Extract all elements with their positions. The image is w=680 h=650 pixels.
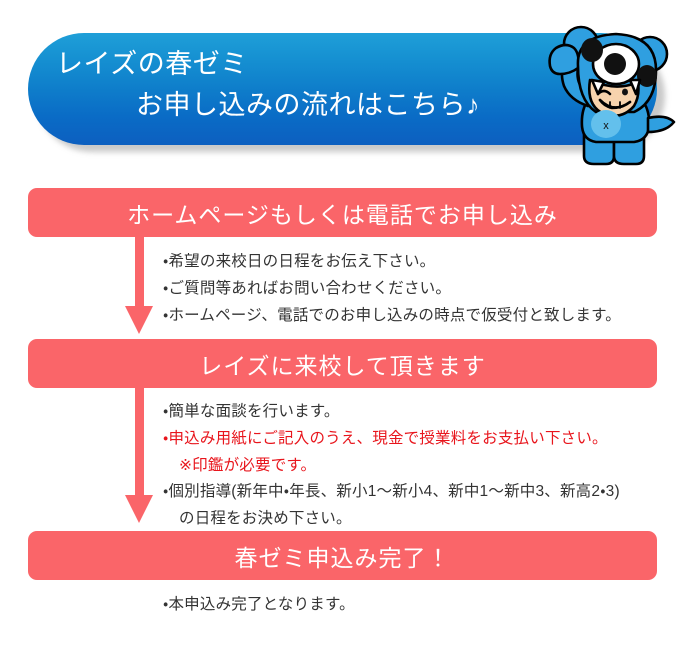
step-2-bullet-list: ・簡単な面談を行います。 ・申込み用紙にご記入のうえ、現金で授業料をお支払い下さ…	[163, 399, 620, 533]
flow-arrow-1-stem	[135, 236, 144, 308]
list-item: ・本申込み完了となります。	[163, 592, 355, 619]
step-bar-1: ホームページもしくは電話でお申し込み	[28, 188, 657, 237]
step-3-bullet-list: ・本申込み完了となります。	[163, 592, 355, 619]
flow-arrow-1-icon	[125, 236, 153, 334]
list-item-highlight-note: ※印鑑が必要です。	[163, 453, 620, 480]
flow-arrow-1-head	[125, 306, 153, 334]
step-bar-2: レイズに来校して頂きます	[28, 339, 657, 388]
flow-arrow-2-icon	[125, 387, 153, 525]
list-item: ・簡単な面談を行います。	[163, 399, 620, 426]
step-bar-3: 春ゼミ申込み完了！	[28, 531, 657, 580]
list-item: ・個別指導(新年中・年長、新小1〜新小4、新中1〜新中3、新高2・3)	[163, 479, 620, 506]
list-item-continuation: の日程をお決め下さい。	[163, 506, 620, 533]
flow-arrow-2-head	[125, 495, 153, 523]
step-1-bullet-list: ・希望の来校日の日程をお伝え下さい。 ・ご質問等あればお問い合わせください。 ・…	[163, 249, 621, 329]
svg-text:x: x	[603, 120, 609, 132]
list-item: ・ホームページ、電話でのお申し込みの時点で仮受付と致します。	[163, 303, 621, 330]
application-flow-page: レイズの春ゼミ お申し込みの流れはこちら♪	[0, 0, 680, 650]
list-item: ・ご質問等あればお問い合わせください。	[163, 276, 621, 303]
header-banner-area: レイズの春ゼミ お申し込みの流れはこちら♪	[0, 0, 680, 180]
blue-bear-costume-kid-mascot-icon: x	[526, 14, 680, 172]
flow-arrow-2-stem	[135, 387, 144, 497]
list-item: ・希望の来校日の日程をお伝え下さい。	[163, 249, 621, 276]
list-item-highlight: ・申込み用紙にご記入のうえ、現金で授業料をお支払い下さい。	[163, 426, 620, 453]
